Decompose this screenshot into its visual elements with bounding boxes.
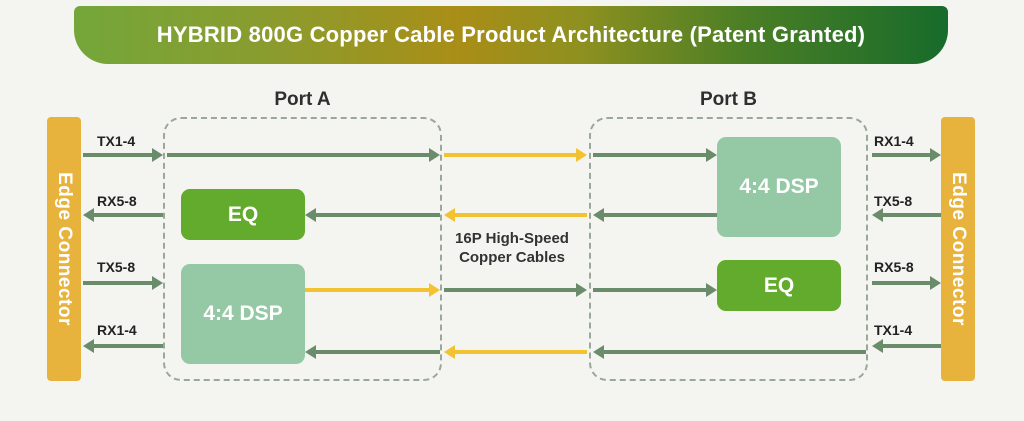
signal-label-left-tx5-8: TX5-8: [97, 259, 135, 275]
arrow-portb-row4: [593, 345, 866, 359]
diagram-canvas: HYBRID 800G Copper Cable Product Archite…: [0, 0, 1024, 421]
edge-connector-left-label: Edge Connector: [53, 172, 75, 326]
arrow-cable-row2: [444, 208, 587, 222]
port-b-title: Port B: [589, 89, 868, 111]
edge-connector-right: Edge Connector: [941, 117, 975, 381]
banner-title-text: HYBRID 800G Copper Cable Product Archite…: [157, 22, 865, 48]
arrow-portb-row3: [593, 283, 717, 297]
arrow-portb-row2: [593, 208, 717, 222]
cable-caption-line-2: Copper Cables: [434, 248, 590, 267]
signal-label-right-tx1-4: TX1-4: [874, 322, 912, 338]
arrow-cable-row3: [444, 283, 587, 297]
arrow-portb-row1: [593, 148, 717, 162]
signal-label-right-rx1-4: RX1-4: [874, 133, 914, 149]
signal-label-right-rx5-8: RX5-8: [874, 259, 914, 275]
arrow-right-row2-in: [872, 208, 941, 222]
port-a-eq-block: EQ: [181, 189, 305, 240]
edge-connector-left: Edge Connector: [47, 117, 81, 381]
signal-label-left-rx1-4: RX1-4: [97, 322, 137, 338]
arrow-cable-row1: [444, 148, 587, 162]
arrow-porta-row4: [305, 345, 440, 359]
cable-caption: 16P High-Speed Copper Cables: [434, 229, 590, 267]
arrow-left-row2-out: [83, 208, 163, 222]
arrow-porta-row3: [305, 283, 440, 297]
title-banner: HYBRID 800G Copper Cable Product Archite…: [74, 6, 948, 64]
port-b-dsp-block: 4:4 DSP: [717, 137, 841, 237]
port-b-eq-block: EQ: [717, 260, 841, 311]
arrow-left-row1-in: [83, 148, 163, 162]
signal-label-right-tx5-8: TX5-8: [874, 193, 912, 209]
signal-label-left-tx1-4: TX1-4: [97, 133, 135, 149]
port-a-dsp-block: 4:4 DSP: [181, 264, 305, 364]
signal-label-left-rx5-8: RX5-8: [97, 193, 137, 209]
arrow-left-row4-out: [83, 339, 163, 353]
edge-connector-right-label: Edge Connector: [947, 172, 969, 326]
arrow-right-row4-in: [872, 339, 941, 353]
arrow-right-row3-out: [872, 276, 941, 290]
arrow-porta-row1: [167, 148, 440, 162]
arrow-porta-row2: [305, 208, 440, 222]
arrow-right-row1-out: [872, 148, 941, 162]
arrow-left-row3-in: [83, 276, 163, 290]
cable-caption-line-1: 16P High-Speed: [434, 229, 590, 248]
port-a-title: Port A: [163, 89, 442, 111]
arrow-cable-row4: [444, 345, 587, 359]
